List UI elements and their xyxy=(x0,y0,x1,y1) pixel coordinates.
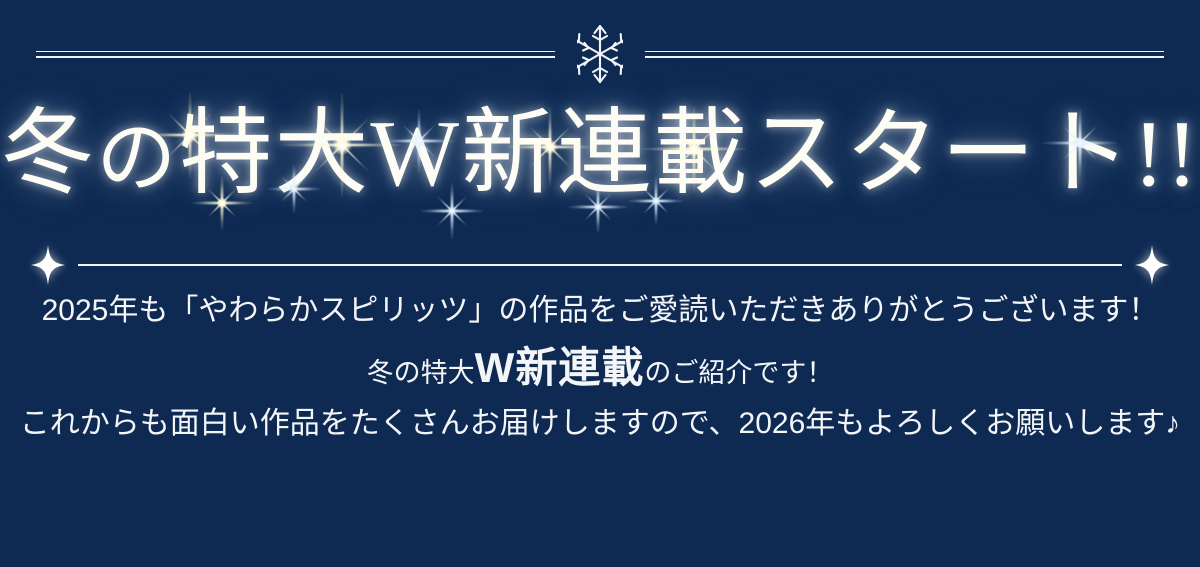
headline-container: 冬の特大W新連載スタート!! xyxy=(0,88,1200,220)
headline-segment-2: の xyxy=(96,115,178,203)
four-point-star-icon-right xyxy=(1132,244,1172,286)
body-line-3: これからも面白い作品をたくさんお届けしますので、2026年もよろしくお願いします… xyxy=(0,409,1200,439)
body-line-2-emphasis: W新連載 xyxy=(475,347,645,389)
body-line-1: 2025年も「やわらかスピリッツ」の作品をご愛読いただきありがとうございます！ xyxy=(0,296,1200,326)
body-copy: 2025年も「やわらかスピリッツ」の作品をご愛読いただきありがとうございます！ … xyxy=(0,296,1200,439)
winter-campaign-banner: 冬の特大W新連載スタート!! xyxy=(0,0,1200,567)
snowflake-icon xyxy=(577,21,623,87)
headline-segment-3: 特大W新連載 xyxy=(178,102,749,206)
body-line-2-prefix: 冬の特大 xyxy=(367,360,475,387)
mid-divider xyxy=(0,244,1200,286)
top-divider xyxy=(0,20,1200,88)
body-line-2: 冬の特大W新連載のご紹介です！ xyxy=(0,347,1200,389)
four-point-star-icon-left xyxy=(28,244,68,286)
divider-rule-right xyxy=(645,51,1164,58)
headline-segment-1: 冬 xyxy=(0,102,96,206)
headline-text: 冬の特大W新連載スタート!! xyxy=(0,107,1200,201)
divider-rule-left xyxy=(36,51,555,58)
headline-segment-4: スタート!! xyxy=(749,102,1200,206)
body-line-2-suffix: のご紹介です！ xyxy=(644,360,833,387)
mid-divider-rule xyxy=(78,264,1122,266)
